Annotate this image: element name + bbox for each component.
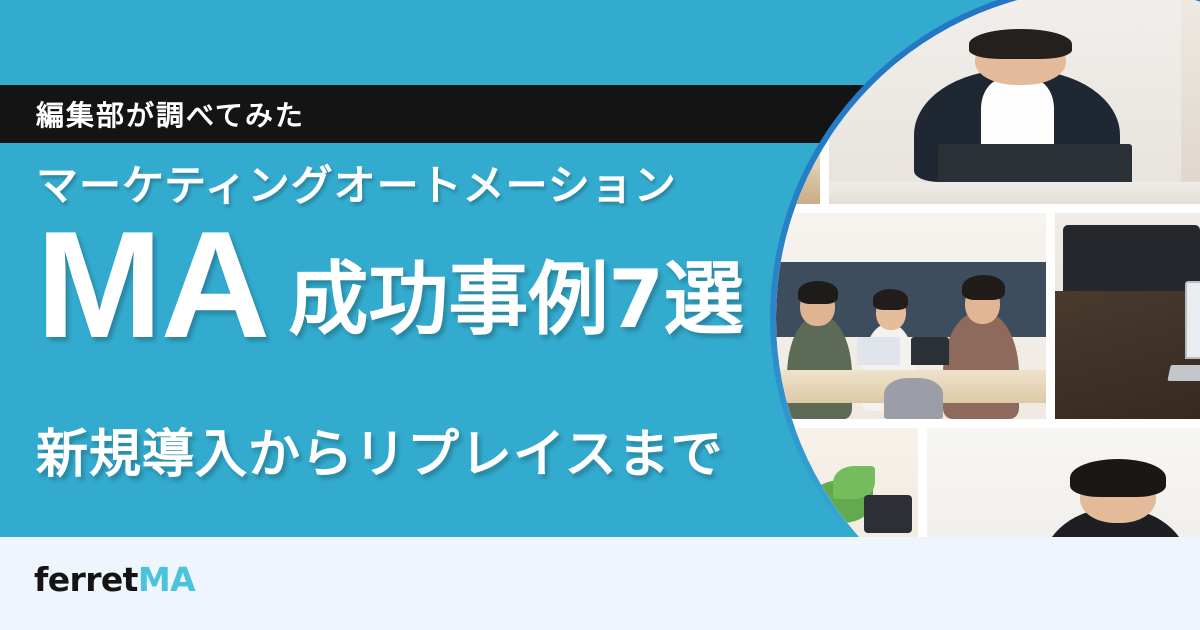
eyebrow-label: 編集部が調べてみた (36, 85, 796, 143)
logo-name-accent: MA (138, 560, 195, 599)
headline-suffix: 成功事例7選 (288, 258, 744, 342)
photo-sliver-top-left (776, 0, 820, 204)
ferret-ma-logo[interactable]: ferretMA (34, 560, 195, 600)
headline-title-row: MA 成功事例7選 (36, 214, 816, 344)
photo-collage-grid (776, 0, 1200, 630)
photo-two-men-laptops (829, 0, 1200, 204)
photo-row-top (776, 0, 1200, 204)
headline-block: マーケティングオートメーション MA 成功事例7選 (36, 160, 816, 344)
photo-three-people-meeting (776, 213, 1046, 419)
headline-acronym: MA (36, 226, 268, 344)
photo-laptop-on-desk (1055, 213, 1200, 419)
photo-row-middle (776, 213, 1200, 419)
hero-banner: 編集部が調べてみた マーケティングオートメーション MA 成功事例7選 新規導入… (0, 0, 1200, 630)
logo-name-primary: ferret (34, 560, 138, 599)
subheadline: 新規導入からリプレイスまで (36, 424, 723, 486)
photo-collage (776, 0, 1200, 630)
